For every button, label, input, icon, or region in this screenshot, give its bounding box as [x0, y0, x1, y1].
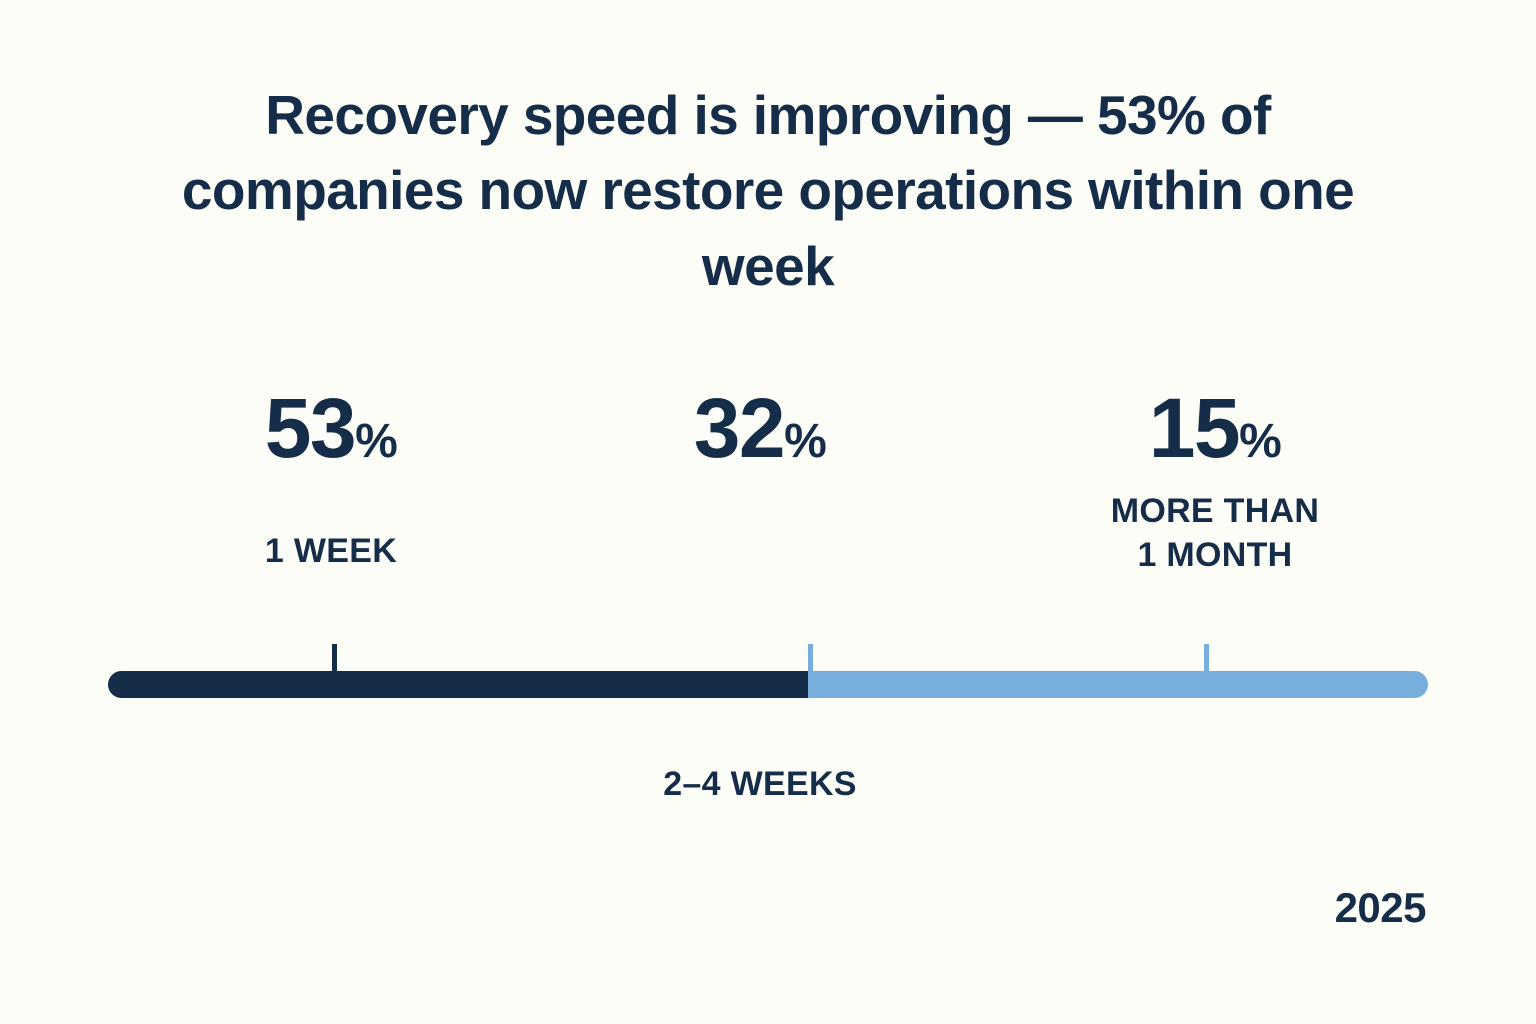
bar-caption-two-to-four-weeks: 2–4 WEEKS — [560, 765, 960, 804]
percent-sign-two-to-four-weeks: % — [784, 415, 826, 468]
page-title: Recovery speed is improving — 53% of com… — [128, 78, 1408, 304]
bar-segment-one-week — [108, 671, 808, 698]
stat-number-two-to-four-weeks: 32 — [694, 381, 784, 475]
stat-value-one-week: 53% — [131, 386, 531, 470]
stat-number-one-week: 53 — [265, 381, 355, 475]
stat-value-more-than-one-month: 15% — [1015, 386, 1415, 470]
year-label: 2025 — [1335, 884, 1426, 932]
stat-value-two-to-four-weeks: 32% — [560, 386, 960, 470]
tick-mark-one-week — [332, 644, 337, 671]
stat-more-than-one-month: 15% MORE THAN 1 MONTH — [1015, 386, 1415, 577]
proportion-bar — [108, 671, 1428, 698]
stat-number-more-than-one-month: 15 — [1149, 381, 1239, 475]
stat-label-more-than-one-month: MORE THAN 1 MONTH — [1015, 490, 1415, 577]
stat-two-to-four-weeks: 32% — [560, 386, 960, 470]
tick-mark-more-than-one-month — [1204, 644, 1209, 671]
stat-one-week: 53% 1 WEEK — [131, 386, 531, 574]
bar-track — [108, 671, 1428, 698]
tick-mark-two-to-four-weeks — [808, 644, 813, 671]
stat-label-one-week: 1 WEEK — [131, 530, 531, 574]
infographic-canvas: Recovery speed is improving — 53% of com… — [0, 0, 1536, 1024]
percent-sign-one-week: % — [355, 415, 397, 468]
percent-sign-more-than-one-month: % — [1239, 415, 1281, 468]
